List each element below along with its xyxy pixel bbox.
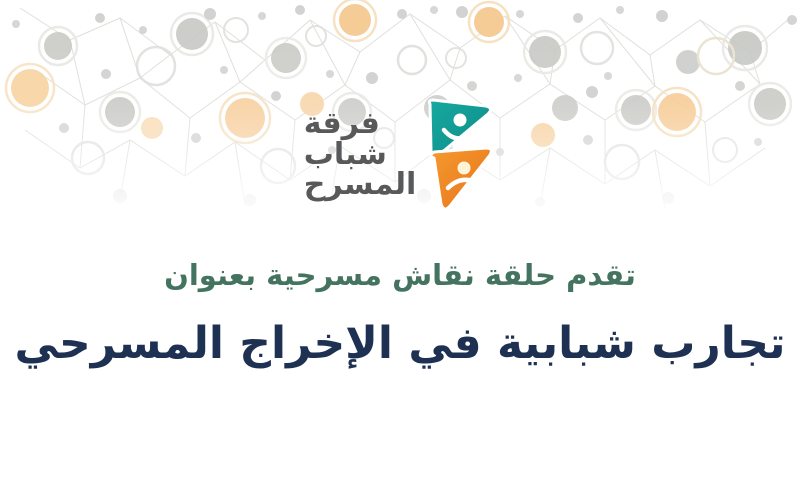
- organization-logo: فرقة شباب المسرح: [0, 96, 800, 214]
- theatre-masks-logo-icon: [424, 96, 496, 214]
- event-subtitle: تقدم حلقة نقاش مسرحية بعنوان: [0, 258, 800, 292]
- event-headline-title: تجارب شبابية في الإخراج المسرحي: [0, 318, 800, 369]
- logo-wordmark: فرقة شباب المسرح: [304, 109, 416, 201]
- logo-wordmark-line-1: فرقة: [304, 109, 380, 140]
- poster-canvas: فرقة شباب المسرح تقدم حلقة نقاش مسرحية ب…: [0, 0, 800, 500]
- logo-wordmark-line-3: المسرح: [304, 170, 416, 201]
- logo-wordmark-line-2: شباب: [304, 140, 387, 171]
